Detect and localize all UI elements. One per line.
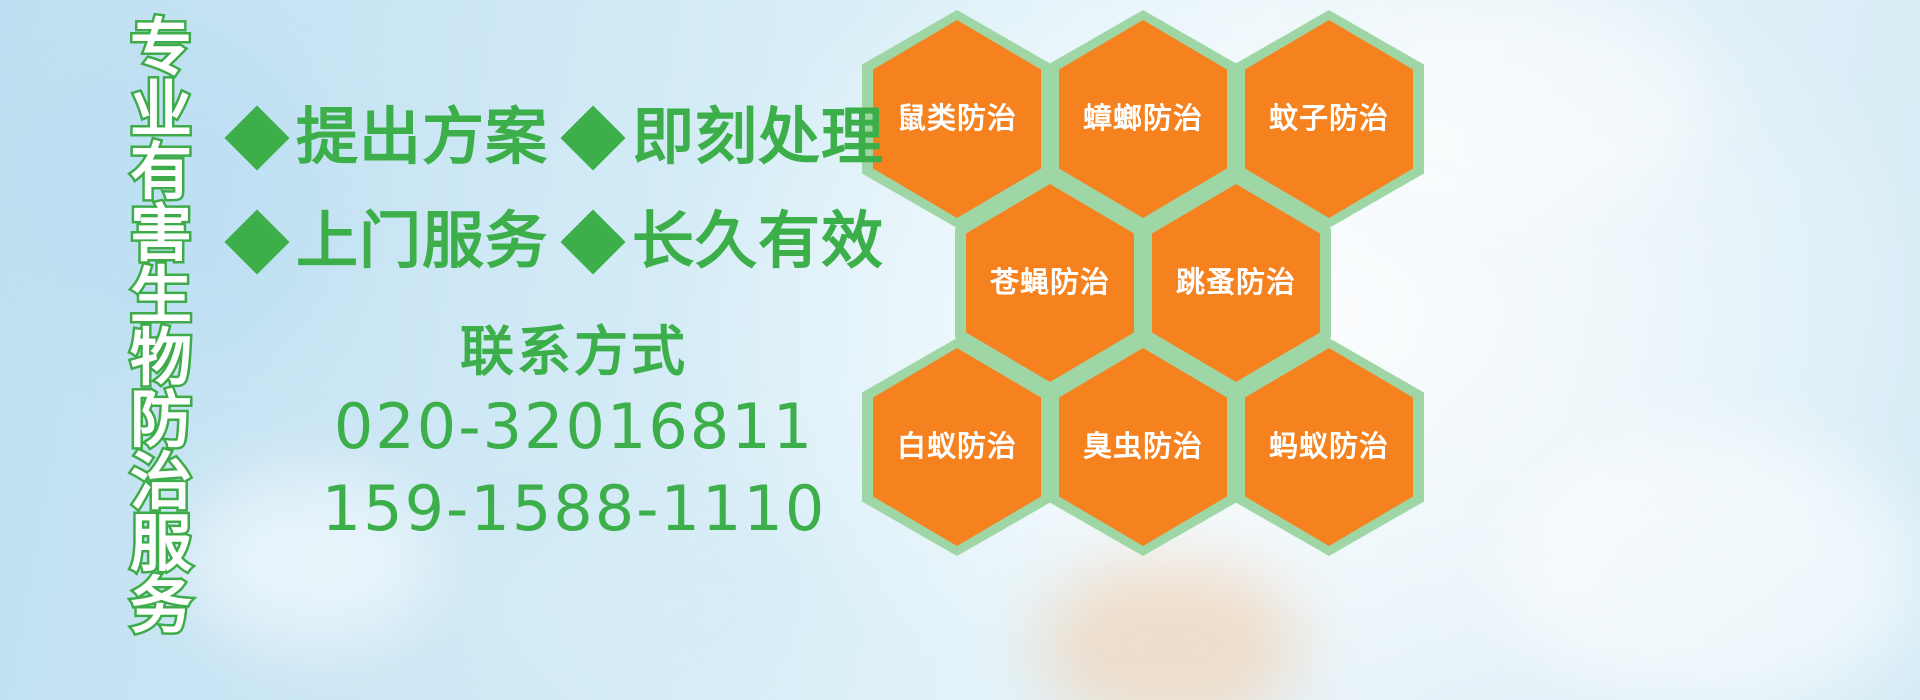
vertical-headline-char: 有 <box>130 142 192 204</box>
background-blob <box>1500 430 1920 700</box>
service-label: 蚊子防治 <box>1269 102 1389 136</box>
feature-label: 上门服务 <box>296 211 548 273</box>
diamond-icon <box>224 105 289 170</box>
feature-label: 提出方案 <box>296 107 548 169</box>
vertical-headline-char: 专 <box>130 18 192 80</box>
vertical-headline-char: 服 <box>130 514 192 576</box>
contact-heading: 联系方式 <box>288 318 860 386</box>
service-label: 跳蚤防治 <box>1176 266 1296 300</box>
background-blob <box>1040 560 1300 700</box>
service-label: 苍蝇防治 <box>990 266 1110 300</box>
service-label: 蟑螂防治 <box>1083 102 1203 136</box>
diamond-icon <box>224 209 289 274</box>
service-label: 臭虫防治 <box>1083 430 1203 464</box>
vertical-headline: 专 业 有 害 生 物 防 治 服 务 <box>106 18 216 578</box>
service-hexagon[interactable]: 臭虫防治 <box>1048 338 1238 556</box>
service-label: 鼠类防治 <box>897 102 1017 136</box>
service-label: 白蚁防治 <box>897 430 1017 464</box>
feature-row: 提出方案 即刻处理 <box>232 86 904 190</box>
vertical-headline-char: 治 <box>130 452 192 514</box>
service-hexagon[interactable]: 蚂蚁防治 <box>1234 338 1424 556</box>
vertical-headline-char: 防 <box>130 390 192 452</box>
vertical-headline-char: 害 <box>130 204 192 266</box>
promo-banner: 专 业 有 害 生 物 防 治 服 务 提出方案 即刻处理 上门服务 长久有效 … <box>0 0 1920 700</box>
service-hexagon-grid: 鼠类防治 蟑螂防治 蚊子防治 苍蝇防治 跳蚤防治 <box>862 2 1462 562</box>
vertical-headline-char: 业 <box>130 80 192 142</box>
vertical-headline-char: 务 <box>130 576 192 638</box>
phone-number-mobile[interactable]: 159-1588-1110 <box>288 468 860 550</box>
feature-label: 长久有效 <box>632 211 884 273</box>
feature-label: 即刻处理 <box>632 107 884 169</box>
diamond-icon <box>560 209 625 274</box>
service-label: 蚂蚁防治 <box>1269 430 1389 464</box>
diamond-icon <box>560 105 625 170</box>
phone-number-landline[interactable]: 020-32016811 <box>288 386 860 468</box>
vertical-headline-char: 生 <box>130 266 192 328</box>
feature-row: 上门服务 长久有效 <box>232 190 904 294</box>
contact-block: 联系方式 020-32016811 159-1588-1110 <box>288 318 860 550</box>
feature-list: 提出方案 即刻处理 上门服务 长久有效 <box>232 86 904 294</box>
service-hexagon[interactable]: 白蚁防治 <box>862 338 1052 556</box>
vertical-headline-char: 物 <box>130 328 192 390</box>
